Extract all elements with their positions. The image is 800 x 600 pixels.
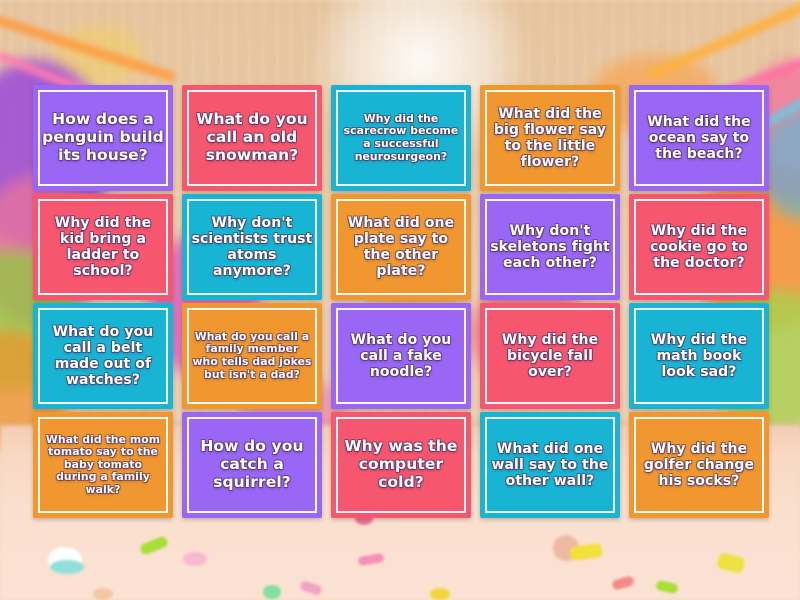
confetti-piece [48,547,82,573]
joke-card-text: How does a penguin build its house? [33,111,173,165]
joke-card[interactable]: Why did the golfer change his socks? [629,412,769,518]
joke-card[interactable]: What do you call a belt made out of watc… [33,303,173,409]
joke-card[interactable]: Why did the kid bring a ladder to school… [33,194,173,300]
confetti-piece [430,588,450,600]
joke-card-text: What did the mom tomato say to the baby … [33,434,173,497]
joke-card-text: What do you call a fake noodle? [331,332,471,381]
balloon-yellow-top-left [55,25,145,85]
joke-card-text: How do you catch a squirrel? [182,438,322,492]
confetti-piece [139,535,169,556]
joke-card-text: What do you call an old snowman? [182,111,322,165]
joke-card-text: What did the ocean say to the beach? [629,114,769,163]
joke-board-screen: How does a penguin build its house?What … [0,0,800,600]
joke-card-grid: How does a penguin build its house?What … [33,85,769,525]
joke-card-text: Why did the kid bring a ladder to school… [33,215,173,280]
joke-card[interactable]: Why did the cookie go to the doctor? [629,194,769,300]
confetti-piece [655,580,679,594]
joke-card[interactable]: Why did the math book look sad? [629,303,769,409]
joke-card-text: Why don't skeletons fight each other? [480,223,620,272]
joke-card[interactable]: What did the ocean say to the beach? [629,85,769,191]
joke-card[interactable]: How does a penguin build its house? [33,85,173,191]
confetti-piece [183,552,207,566]
joke-card[interactable]: How do you catch a squirrel? [182,412,322,518]
joke-card[interactable]: Why don't scientists trust atoms anymore… [182,194,322,300]
confetti-piece [50,560,84,574]
joke-card-text: Why don't scientists trust atoms anymore… [182,215,322,280]
joke-card[interactable]: What do you call a fake noodle? [331,303,471,409]
joke-card-text: What did one plate say to the other plat… [331,215,471,280]
joke-card-text: Why did the golfer change his socks? [629,441,769,490]
joke-card[interactable]: Why did the scarecrow become a successfu… [331,85,471,191]
joke-card[interactable]: Why did the bicycle fall over? [480,303,620,409]
streamer-ribbon [0,11,177,82]
joke-card[interactable]: What did one wall say to the other wall? [480,412,620,518]
joke-card[interactable]: Why don't skeletons fight each other? [480,194,620,300]
joke-card-text: What do you call a family member who tel… [182,331,322,381]
streamer-ribbon [646,0,800,81]
confetti-piece [357,553,384,566]
joke-card[interactable]: What did the mom tomato say to the baby … [33,412,173,518]
joke-card[interactable]: What do you call a family member who tel… [182,303,322,409]
joke-card-text: Why did the math book look sad? [629,332,769,381]
confetti-piece [299,580,323,596]
joke-card[interactable]: What did one plate say to the other plat… [331,194,471,300]
joke-card-text: What do you call a belt made out of watc… [33,324,173,389]
joke-card[interactable]: What did the big flower say to the littl… [480,85,620,191]
confetti-piece [553,535,579,561]
confetti-piece [569,543,603,561]
joke-card[interactable]: What do you call an old snowman? [182,85,322,191]
joke-card[interactable]: Why was the computer cold? [331,412,471,518]
confetti-piece [263,585,281,599]
confetti-piece [611,575,635,591]
joke-card-text: Why was the computer cold? [331,438,471,492]
joke-card-text: What did one wall say to the other wall? [480,441,620,490]
joke-card-text: What did the big flower say to the littl… [480,106,620,171]
joke-card-text: Why did the scarecrow become a successfu… [331,113,471,163]
confetti-piece [93,588,113,600]
confetti-piece [716,552,745,574]
joke-card-text: Why did the bicycle fall over? [480,332,620,381]
joke-card-text: Why did the cookie go to the doctor? [629,223,769,272]
